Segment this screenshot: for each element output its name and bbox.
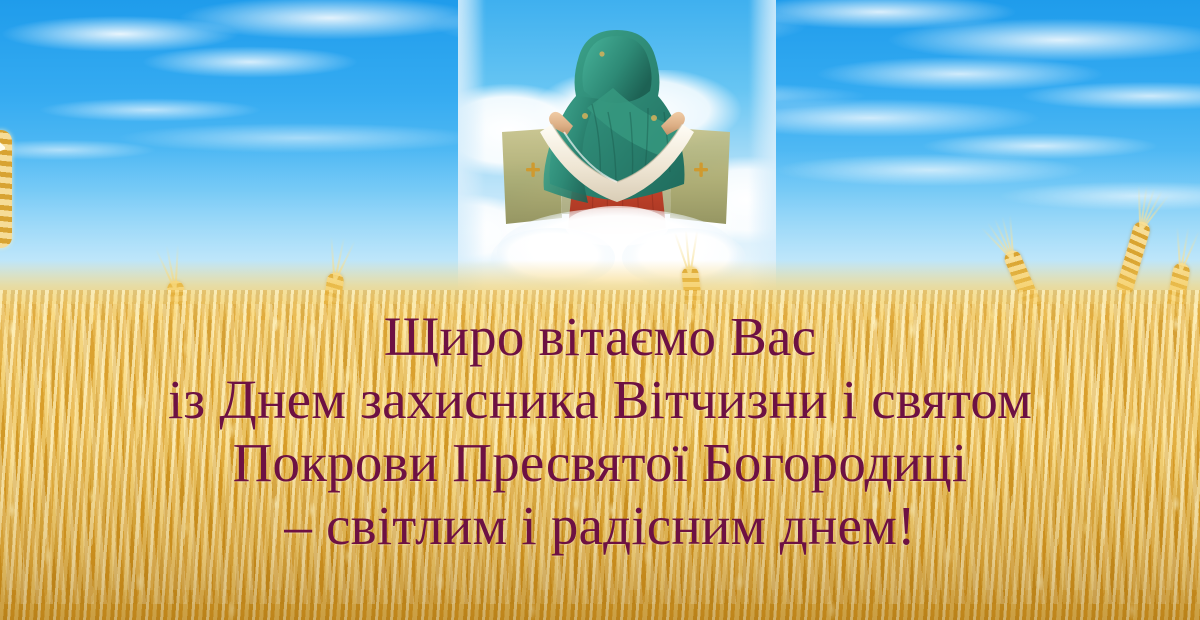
greeting-text-block: Щиро вітаємо Вас із Днем захисника Вітчи…	[0, 306, 1200, 558]
greeting-line-3: Покрови Пресвятої Богородиці	[0, 432, 1200, 495]
greeting-line-1: Щиро вітаємо Вас	[0, 306, 1200, 369]
greeting-line-2: із Днем захисника Вітчизни і святом	[0, 369, 1200, 432]
greeting-card: Щиро вітаємо Вас із Днем захисника Вітчи…	[0, 0, 1200, 620]
pokrova-icon-panel	[458, 0, 776, 300]
greeting-line-4: – світлим і радісним днем!	[0, 495, 1200, 558]
theotokos-figure-art	[458, 0, 776, 300]
icon-green-mantle	[544, 30, 685, 203]
